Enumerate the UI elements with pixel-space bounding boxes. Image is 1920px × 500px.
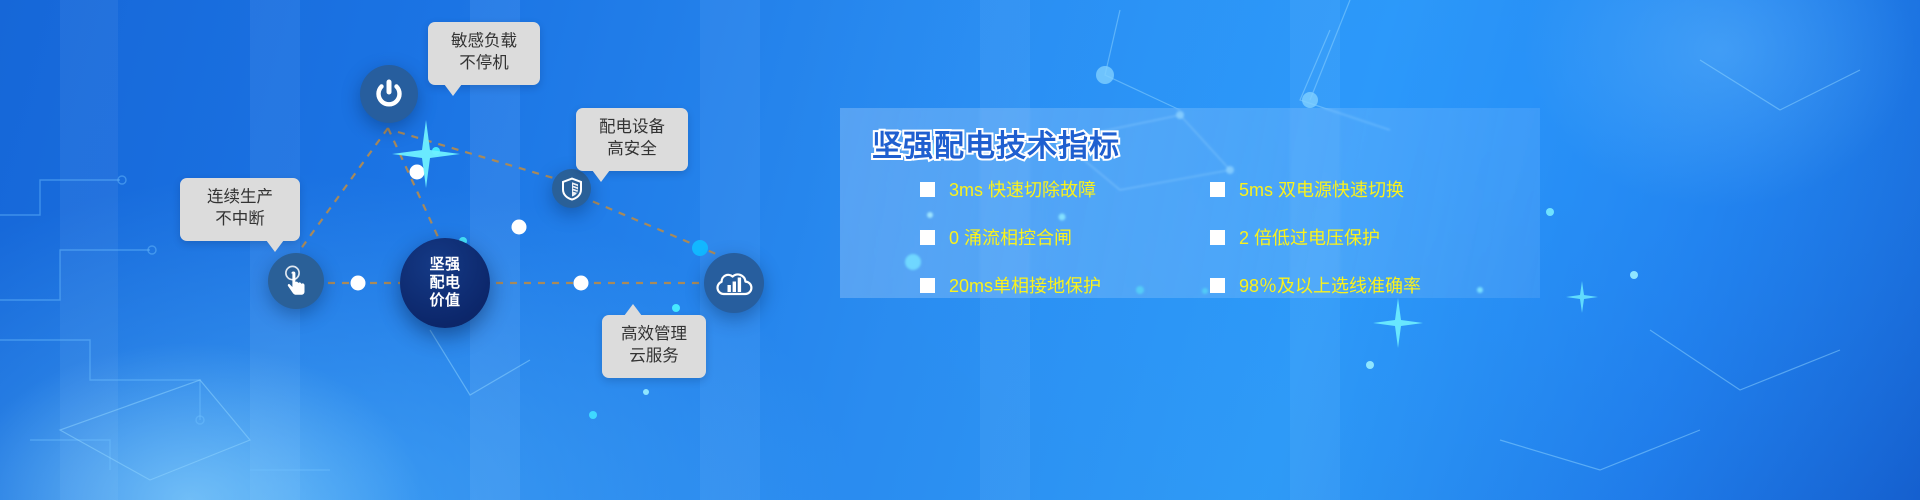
spec-list: 3ms 快速切除故障 5ms 双电源快速切换 0 涌流相控合闸 2 倍低过电压保… — [920, 176, 1520, 298]
callout-continuous-production[interactable]: 连续生产 不中断 — [180, 178, 300, 241]
center-value-node[interactable]: 坚强 配电 价值 — [400, 238, 490, 328]
spec-item: 3ms 快速切除故障 — [920, 176, 1210, 202]
shield-icon — [561, 177, 583, 201]
bullet-icon — [920, 182, 935, 197]
spec-item: 2 倍低过电压保护 — [1210, 224, 1500, 250]
spec-text: 98％及以上选线准确率 — [1239, 272, 1421, 298]
spec-text: 2 倍低过电压保护 — [1239, 224, 1380, 250]
bullet-icon — [920, 230, 935, 245]
cloud-chart-node[interactable] — [704, 253, 764, 313]
spec-panel-title: 坚强配电技术指标 — [872, 121, 1120, 165]
spec-text: 0 涌流相控合闸 — [949, 224, 1072, 250]
touch-node[interactable] — [268, 253, 324, 309]
power-node[interactable] — [360, 65, 418, 123]
spec-text: 3ms 快速切除故障 — [949, 176, 1096, 202]
spec-item: 5ms 双电源快速切换 — [1210, 176, 1500, 202]
bullet-icon — [1210, 278, 1225, 293]
callout-sensitive-load[interactable]: 敏感负载 不停机 — [428, 22, 540, 85]
cloud-bar-chart-icon — [715, 268, 753, 298]
spec-item: 20ms单相接地保护 — [920, 272, 1210, 298]
spec-item: 98％及以上选线准确率 — [1210, 272, 1500, 298]
bullet-icon — [1210, 230, 1225, 245]
spec-item: 0 涌流相控合闸 — [920, 224, 1210, 250]
callout-cloud-management[interactable]: 高效管理 云服务 — [602, 315, 706, 378]
bullet-icon — [1210, 182, 1225, 197]
banner-root: 坚强 配电 价值 敏感负载 不停机 配电设备 高安全 连续生产 不中断 高效管理… — [0, 0, 1920, 500]
callout-distribution-safety[interactable]: 配电设备 高安全 — [576, 108, 688, 171]
bullet-icon — [920, 278, 935, 293]
shield-node[interactable] — [552, 169, 591, 208]
center-value-label: 坚强 配电 价值 — [429, 256, 460, 309]
power-icon — [372, 77, 406, 111]
spec-text: 5ms 双电源快速切换 — [1239, 176, 1404, 202]
hand-touch-icon — [280, 264, 312, 298]
spec-text: 20ms单相接地保护 — [949, 272, 1101, 298]
